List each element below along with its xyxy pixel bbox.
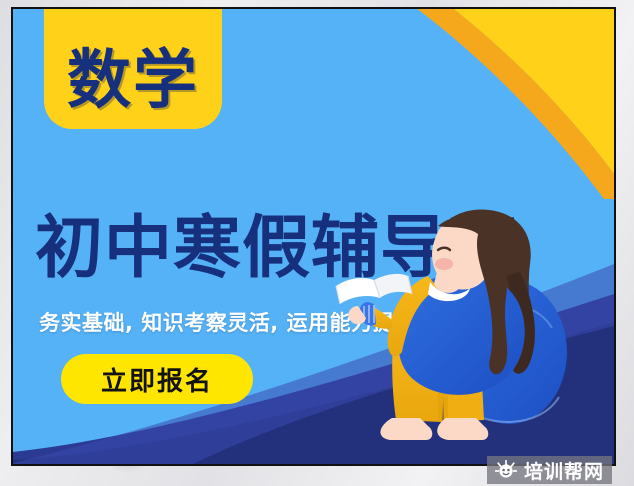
enroll-now-button[interactable]: 立即报名 [61,354,253,404]
watermark-label: 培训帮网 [524,457,604,484]
yellow-swoosh-decoration [234,7,616,199]
site-watermark: 培训帮网 [487,456,612,484]
sun-face-icon [495,460,517,480]
course-poster: 数学 初中寒假辅导班 务实基础, 知识考察灵活, 运用能力提升 立即报名 [11,7,616,466]
subject-badge-label: 数学 [67,49,199,113]
enroll-now-label: 立即报名 [101,361,213,398]
woman-reading-book-illustration [334,202,584,452]
subject-badge: 数学 [44,7,222,129]
